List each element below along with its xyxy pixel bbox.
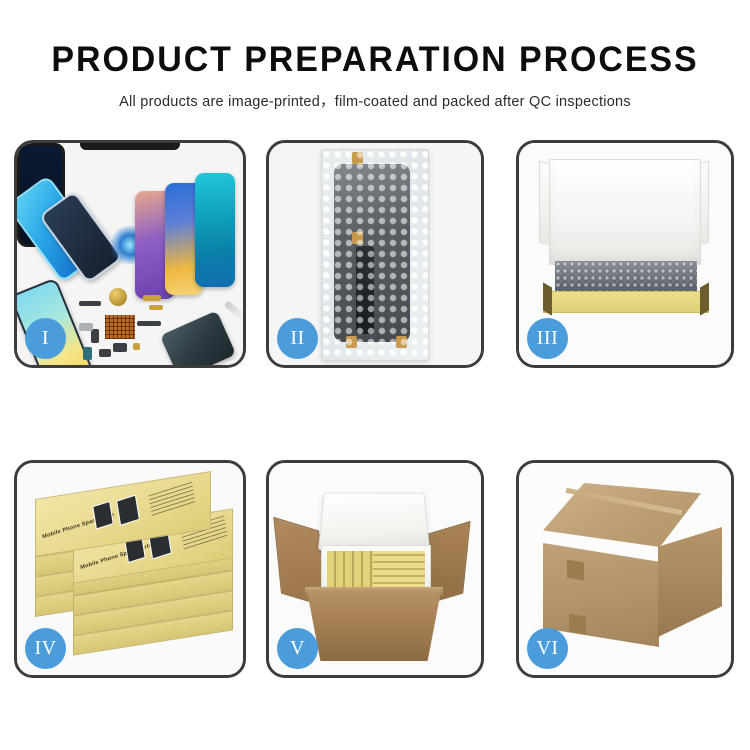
header: PRODUCT PREPARATION PROCESS All products… <box>0 0 750 111</box>
part-chip-3 <box>149 305 163 310</box>
part-chip-10 <box>133 343 140 350</box>
step-badge-6: VI <box>527 628 568 669</box>
copper-shield-grid-icon <box>105 315 135 339</box>
carton-tape-mark-top <box>567 560 584 581</box>
flex-cable <box>356 246 374 334</box>
part-chip-8 <box>83 347 92 360</box>
step-badge-4: IV <box>25 628 66 669</box>
kraft-box-edge-right <box>700 282 709 315</box>
tape-tab-mid <box>352 232 363 244</box>
tape-tab-bottom-left <box>346 336 357 348</box>
process-step-3[interactable]: III <box>516 140 734 368</box>
part-chip-4 <box>91 329 99 343</box>
kraft-box-edge-left <box>543 282 552 315</box>
kraft-box-front <box>543 291 709 313</box>
part-chip-9 <box>99 349 111 357</box>
bubble-wrap-bag <box>321 149 429 361</box>
box-window-rear-1 <box>92 501 114 530</box>
tape-tab-bottom-right <box>396 336 407 348</box>
page-subtitle: All products are image-printed，film-coat… <box>0 90 750 111</box>
phone-back-housing-icon <box>160 310 236 365</box>
process-step-5[interactable]: V <box>266 460 484 678</box>
box-window-rear-2 <box>116 495 140 526</box>
carton-front-face <box>543 543 659 647</box>
bubble-wrapped-contents <box>555 261 697 293</box>
product-preparation-infographic: PRODUCT PREPARATION PROCESS All products… <box>0 0 750 750</box>
phone-teal-icon <box>195 173 235 287</box>
tape-tab-top <box>352 152 363 164</box>
packed-yellow-boxes-stacked <box>373 551 425 589</box>
carton-body <box>307 591 441 661</box>
foam-lid <box>549 159 701 265</box>
step-badge-5: V <box>277 628 318 669</box>
part-chip-6 <box>137 321 161 326</box>
part-chip-1 <box>79 301 101 306</box>
page-title: PRODUCT PREPARATION PROCESS <box>11 42 739 79</box>
screwdriver-icon <box>224 300 243 332</box>
part-chip-7 <box>113 343 127 352</box>
carton-tape-mark-bottom <box>569 614 586 635</box>
foam-liner-lid <box>318 493 430 551</box>
process-step-2[interactable]: II <box>266 140 484 368</box>
process-step-6[interactable]: VI <box>516 460 734 678</box>
part-chip-5 <box>79 323 93 331</box>
step-badge-2: II <box>277 318 318 359</box>
step-badge-1: I <box>25 318 66 359</box>
speaker-module-icon <box>109 288 127 306</box>
process-step-4[interactable]: Mobile Phone Spare Parts Mobile Phone Sp… <box>14 460 246 678</box>
carton-side-face <box>658 527 722 637</box>
process-step-1[interactable]: I <box>14 140 246 368</box>
box-spec-lines-rear <box>149 482 196 517</box>
step-badge-3: III <box>527 318 568 359</box>
part-chip-2 <box>143 295 161 301</box>
